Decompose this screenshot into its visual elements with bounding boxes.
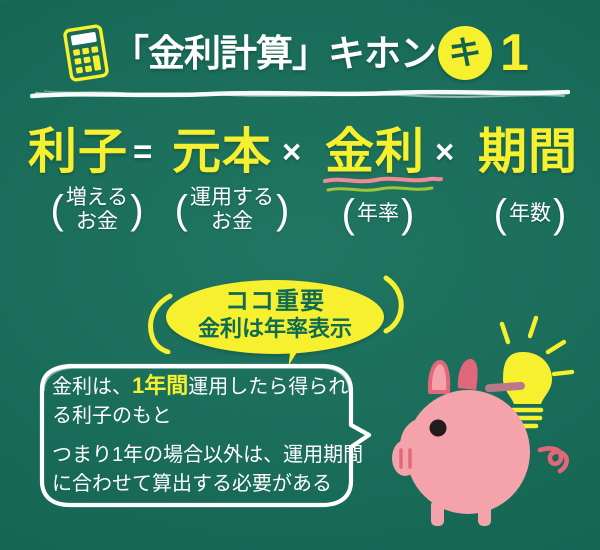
paren-close: ) bbox=[276, 190, 289, 230]
sublabel-line1: 運用する bbox=[190, 186, 274, 209]
sublabel-line2: お金 bbox=[76, 210, 118, 233]
sublabel-principal: (運用するお金) bbox=[152, 186, 312, 234]
sublabel-line1: 年率 bbox=[355, 202, 401, 226]
paren-open: ( bbox=[50, 190, 63, 230]
calculator-icon bbox=[58, 22, 114, 89]
paren-open: ( bbox=[342, 194, 355, 234]
callout-subline: 金利は年率表示 bbox=[166, 316, 384, 342]
formula-operator-times-1: × bbox=[282, 124, 301, 180]
speech-bubble: 金利は、1年間運用したら得られる利子のもと つまり1年の場合以外は、運用期間に合… bbox=[22, 355, 392, 515]
formula-operator-equals: = bbox=[133, 124, 152, 180]
bubble-p1-highlight: 1年間 bbox=[132, 373, 188, 398]
formula-term-period: 期間 bbox=[478, 124, 578, 180]
badge-ki: キ bbox=[438, 26, 492, 80]
bubble-paragraph-1: 金利は、1年間運用したら得られる利子のもと bbox=[52, 371, 368, 431]
sublabel-rate: (年率) bbox=[318, 194, 438, 234]
paren-close: ) bbox=[130, 190, 143, 230]
callout-headline: ココ重要 bbox=[166, 288, 384, 316]
formula-operator-times-2: × bbox=[435, 124, 454, 180]
formula-term-rate: 金利 bbox=[325, 124, 425, 180]
formula-term-interest: 利子 bbox=[28, 124, 128, 180]
sublabel-line2: お金 bbox=[211, 210, 253, 233]
formula-term-principal: 元本 bbox=[172, 124, 272, 180]
lesson-number-label: 1 bbox=[500, 24, 529, 82]
lesson-number: 1 bbox=[500, 20, 529, 86]
bubble-paragraph-2: つまり1年の場合以外は、運用期間に合わせて算出する必要がある bbox=[52, 441, 368, 499]
speech-bubble-text: 金利は、1年間運用したら得られる利子のもと つまり1年の場合以外は、運用期間に合… bbox=[52, 371, 368, 499]
illustration bbox=[390, 300, 600, 550]
bubble-p1-before: 金利は、 bbox=[52, 376, 132, 398]
paren-close: ) bbox=[401, 194, 414, 234]
paren-open: ( bbox=[175, 190, 188, 230]
paren-close: ) bbox=[553, 194, 566, 234]
sublabel-line1: 年数 bbox=[507, 202, 553, 226]
sublabel-interest: (増えるお金) bbox=[22, 186, 172, 234]
chalk-divider-icon bbox=[30, 88, 570, 107]
sublabel-period: (年数) bbox=[470, 194, 590, 234]
header: 「金利計算」キホンの キ 1 bbox=[0, 0, 600, 100]
sublabel-line1: 増える bbox=[66, 186, 128, 209]
paren-open: ( bbox=[494, 194, 507, 234]
page-title: 「金利計算」キホンの bbox=[112, 25, 472, 83]
badge-ki-label: キ bbox=[449, 34, 482, 71]
formula-row: 利子 = 元本 × 金利 × 期間 bbox=[0, 124, 600, 180]
page-title-text: 「金利計算」キホンの bbox=[112, 33, 472, 74]
infographic-canvas: 「金利計算」キホンの キ 1 利子 = 元本 × 金利 × 期間 bbox=[0, 0, 600, 550]
